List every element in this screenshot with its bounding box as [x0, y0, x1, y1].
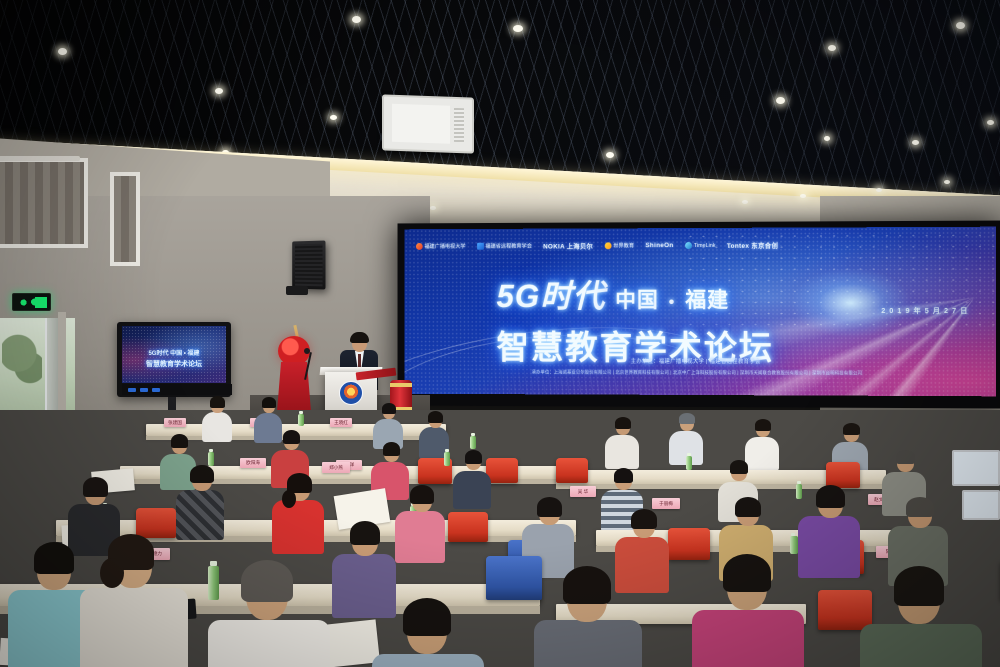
logo-label: ShineOn: [645, 242, 673, 249]
nameplate-text: 欧阳海: [246, 460, 260, 466]
person-torso: [692, 610, 804, 667]
upper-window-right: [110, 172, 140, 266]
fujian-distance-education-association-logo: 福建省远程教育学会: [477, 243, 532, 250]
person-hair: [843, 423, 860, 435]
organizers-line: 主办单位：福建广播电视大学 | 福建省远程教育学会: [404, 356, 996, 366]
person-hair: [537, 497, 562, 517]
water-bottle: [796, 484, 802, 499]
logo-label: 福建省远程教育学会: [485, 243, 532, 250]
monitor-button-icon[interactable]: [152, 388, 160, 392]
person-hair: [896, 450, 915, 464]
logo-label: NOKIA 上海贝尔: [543, 241, 593, 250]
person-torso: [860, 624, 982, 667]
ceiling-downlight: [330, 115, 337, 120]
ceiling-downlight: [987, 120, 994, 125]
person-hair: [190, 465, 214, 483]
audience-chair[interactable]: [668, 528, 710, 560]
nameplate-text: 王晓红: [334, 420, 348, 426]
person-torso: [332, 554, 396, 618]
monitor-button-icon[interactable]: [128, 388, 136, 392]
ceiling-downlight: [828, 45, 836, 51]
logo-label: Tontex 东京合创: [727, 241, 778, 250]
ceiling-downlight: [956, 22, 965, 29]
person-hair: [382, 403, 396, 414]
person-torso: [80, 588, 188, 667]
person-hair: [410, 485, 434, 504]
window-curtain: [0, 162, 84, 244]
soffit-downlight: [430, 206, 436, 210]
tontex-logo: Tontex 东京合创: [727, 241, 778, 250]
laptop-computer[interactable]: [952, 450, 1000, 486]
audience-chair[interactable]: [486, 556, 542, 600]
fujian-radio-tv-university-logo: 福建广播电视大学: [416, 243, 466, 250]
headline-province: 福建: [685, 284, 729, 314]
water-bottle: [444, 452, 450, 466]
audience-chair[interactable]: [556, 458, 588, 483]
nameplate: 于丽梅: [652, 498, 680, 509]
audience-chair[interactable]: [818, 590, 872, 630]
person-hair: [210, 396, 225, 408]
person-hair: [631, 509, 657, 529]
ceiling-downlight: [58, 48, 67, 55]
ceiling-downlight: [352, 16, 361, 23]
logo-label: 世界教育: [613, 242, 634, 249]
person-hair: [730, 460, 748, 474]
person-torso: [395, 511, 445, 563]
exit-running-man-glyph: [17, 297, 47, 308]
microphone-icon: [304, 348, 310, 354]
timelink-logo: TimeLink: [685, 242, 716, 249]
soffit-downlight: [944, 180, 950, 184]
ceiling-ac-vent: [382, 94, 474, 153]
person-ponytail: [100, 558, 124, 588]
presenter-hair: [350, 332, 369, 343]
water-bottle: [686, 456, 692, 470]
curtain-rail: [0, 156, 80, 161]
person-hair: [465, 450, 482, 464]
monitor-button-icon[interactable]: [140, 388, 148, 392]
person-hair: [614, 468, 633, 483]
emergency-exit-icon: [12, 293, 51, 311]
person-torso: [745, 437, 779, 471]
person-hair: [615, 417, 631, 429]
nameplate-text: 于丽梅: [659, 501, 673, 507]
ceiling-downlight: [912, 140, 919, 145]
person-hair-bun: [282, 490, 296, 508]
person-hair: [563, 566, 611, 604]
nameplate-text: 张建国: [168, 420, 182, 426]
person-hair: [816, 485, 845, 508]
person-hair: [350, 521, 380, 545]
person-hair: [679, 413, 695, 424]
audience-chair[interactable]: [136, 508, 176, 538]
logo-mark-icon: [604, 242, 611, 249]
nameplate-text: 郑小燕: [329, 465, 343, 471]
audience-chair[interactable]: [486, 458, 518, 483]
person-torso: [453, 471, 491, 509]
sponsor-logo-row: 福建广播电视大学 福建省远程教育学会 NOKIA 上海贝尔 世界教育 Shine…: [416, 234, 984, 256]
person-hair: [83, 477, 108, 497]
audience-chair[interactable]: [448, 512, 488, 542]
water-bottle: [208, 566, 219, 600]
nameplate: 吴 华: [570, 486, 596, 497]
monitor-control-bar[interactable]: [122, 384, 232, 395]
led-video-wall: 福建广播电视大学 福建省远程教育学会 NOKIA 上海贝尔 世界教育 Shine…: [404, 227, 996, 397]
person-hair: [428, 411, 443, 423]
person-hair: [171, 434, 188, 448]
logo-label: 福建广播电视大学: [425, 243, 466, 250]
upper-window-left: [0, 158, 88, 248]
person-hair: [283, 430, 300, 444]
soffit-downlight: [742, 200, 748, 204]
ceiling-downlight: [824, 136, 830, 141]
person-hair: [383, 442, 400, 456]
logo-label: TimeLink: [694, 242, 716, 248]
speaker-mount-bracket: [286, 286, 308, 295]
forum-date: 2019年5月27日: [881, 306, 971, 316]
shijie-education-logo: 世界教育: [604, 242, 634, 249]
person-torso: [176, 490, 224, 540]
nameplate: 郑小燕: [322, 462, 350, 473]
person-hair: [241, 560, 293, 602]
person-torso: [534, 620, 642, 667]
auxiliary-display[interactable]: 5G时代 中国 • 福建 智慧教育学术论坛: [122, 326, 226, 383]
person-torso: [272, 500, 324, 554]
shineon-logo: ShineOn: [645, 242, 673, 249]
ceiling-downlight: [513, 25, 523, 32]
person-torso: [372, 654, 484, 667]
monitor-line-2: 智慧教育学术论坛: [122, 359, 226, 369]
person-hair: [735, 497, 761, 517]
person-torso: [798, 516, 860, 578]
ceiling-downlight: [606, 152, 614, 158]
headline-5g: 5G时代: [497, 272, 606, 318]
window-curtain: [114, 176, 136, 262]
university-emblem: [339, 381, 363, 405]
presenter-tie: [358, 354, 361, 368]
soffit-downlight: [876, 188, 882, 192]
conference-hall-photo: 福建广播电视大学 福建省远程教育学会 NOKIA 上海贝尔 世界教育 Shine…: [0, 0, 1000, 667]
ceiling-downlight: [776, 97, 785, 104]
person-hair: [723, 554, 771, 592]
headline-separator-dot: •: [669, 294, 676, 312]
person-hair: [894, 566, 944, 606]
person-hair: [34, 542, 74, 574]
person-torso: [615, 537, 669, 593]
person-hair: [906, 497, 934, 517]
person-torso: [605, 435, 639, 469]
nameplate: 欧阳海: [240, 458, 266, 468]
headline-region: 中国: [615, 284, 659, 314]
laptop-computer[interactable]: [962, 490, 1000, 520]
outdoor-foliage: [2, 330, 42, 388]
nameplate: 张建国: [164, 418, 186, 427]
nokia-shanghai-bell-logo: NOKIA 上海贝尔: [543, 241, 593, 250]
soffit-downlight: [800, 194, 806, 198]
nameplate-text: 吴 华: [578, 489, 588, 495]
nameplate: 王晓红: [330, 418, 352, 427]
water-bottle: [470, 436, 476, 449]
monitor-line-1: 5G时代 中国 • 福建: [122, 348, 226, 357]
person-hair: [403, 598, 451, 636]
person-hair: [262, 397, 276, 408]
logo-mark-icon: [416, 243, 423, 250]
person-torso: [202, 412, 232, 442]
water-bottle: [208, 452, 214, 466]
person-torso: [254, 413, 282, 443]
wall-mounted-speaker: [292, 240, 325, 289]
logo-mark-icon: [477, 243, 484, 250]
person-torso: [208, 620, 330, 667]
logo-mark-icon: [685, 242, 692, 249]
water-bottle: [790, 536, 798, 554]
ceiling-downlight: [215, 88, 223, 94]
person-hair: [755, 419, 771, 431]
water-bottle: [298, 414, 304, 426]
